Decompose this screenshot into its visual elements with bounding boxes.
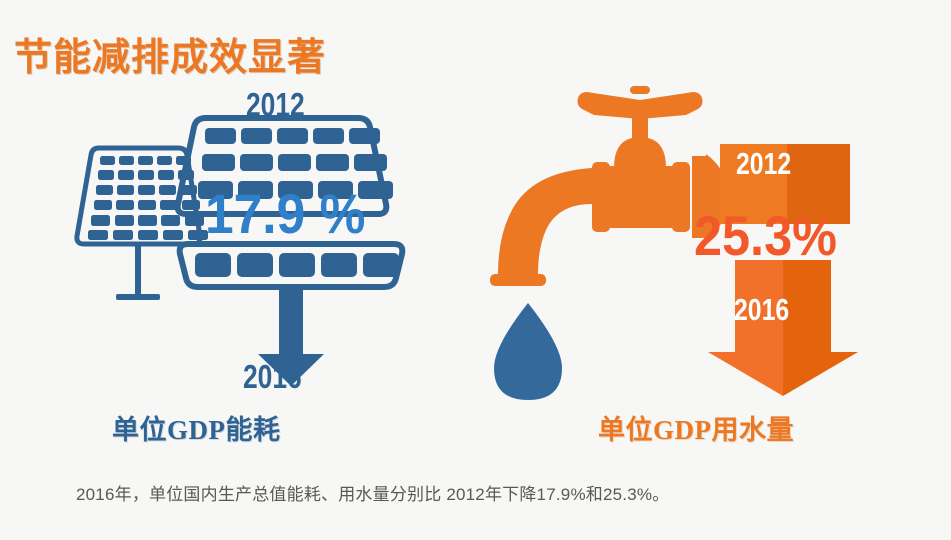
year-label-2012-energy: 2012 — [246, 88, 305, 121]
large-solar-panel-bottom-icon — [180, 244, 403, 287]
faucet-stem-icon — [614, 114, 666, 168]
faucet-spout-icon — [490, 168, 592, 286]
page-title: 节能减排成效显著 — [14, 26, 326, 81]
footer-note: 2016年，单位国内生产总值能耗、用水量分别比 2012年下降17.9%和25.… — [76, 480, 669, 505]
year-label-2016-energy: 2016 — [243, 360, 302, 393]
caption-water: 单位GDP用水量 — [598, 408, 794, 447]
year-label-2016-water: 2016 — [734, 294, 789, 325]
water-drop-icon — [494, 303, 562, 400]
down-arrow-water-icon — [708, 260, 858, 396]
value-energy: 17.9 % — [205, 186, 365, 242]
year-label-2012-water: 2012 — [736, 148, 791, 179]
value-water: 25.3% — [694, 208, 837, 264]
infographic-canvas: 节能减排成效显著 — [0, 0, 951, 540]
caption-energy: 单位GDP能耗 — [112, 408, 281, 447]
